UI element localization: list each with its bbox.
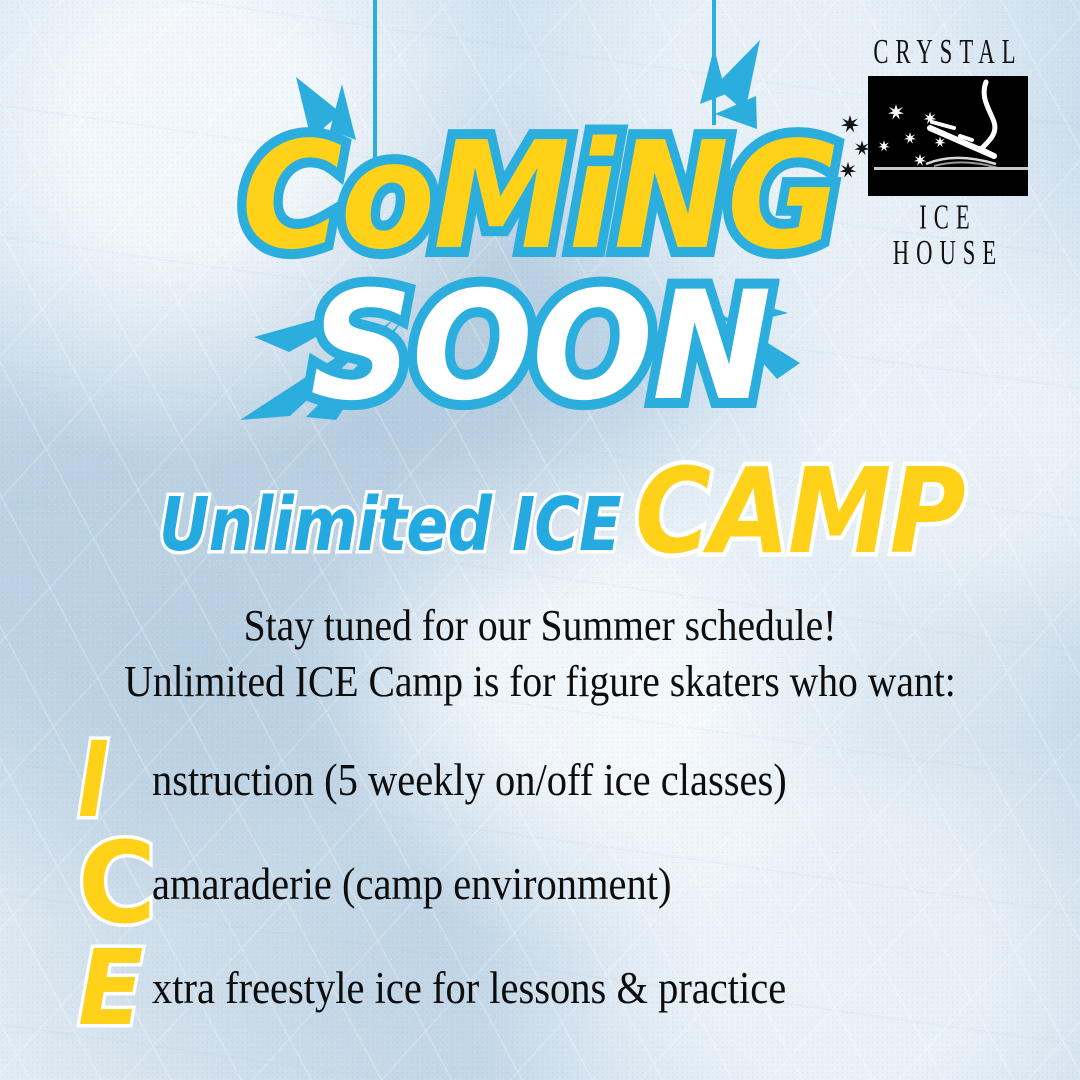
page-title: Unlimited ICE CAMP (0, 452, 1080, 570)
acrostic-letter-i: I (78, 728, 137, 832)
acrostic-text-extra-ice: xtra freestyle ice for lessons & practic… (152, 966, 786, 1011)
ray-icon (715, 40, 760, 112)
announcement-line-1: CoMiNG (0, 128, 1080, 264)
list-item: C amaraderie (camp environment) (78, 832, 1068, 936)
hanging-string-right (712, 0, 716, 125)
poster-canvas: CRYSTAL (0, 0, 1080, 1080)
announcement-line-2: SOON (0, 278, 1080, 416)
coming-text: CoMiNG (242, 128, 839, 264)
title-emphasis: CAMP (635, 452, 964, 570)
intro-line-2: Unlimited ICE Camp is for figure skaters… (54, 654, 1026, 710)
logo-top-text: CRYSTAL (870, 35, 1026, 70)
list-item: I nstruction (5 weekly on/off ice classe… (78, 728, 1068, 832)
acrostic-text-instruction: nstruction (5 weekly on/off ice classes) (152, 758, 787, 803)
soon-text: SOON (310, 278, 770, 416)
acrostic-letter-c: C (78, 828, 148, 940)
acrostic-letter-e: E (78, 936, 146, 1040)
acrostic-text-camaraderie: amaraderie (camp environment) (152, 862, 671, 907)
list-item: E xtra freestyle ice for lessons & pract… (78, 936, 1068, 1040)
intro-line-1: Stay tuned for our Summer schedule! (54, 598, 1026, 654)
title-prefix: Unlimited ICE (159, 488, 621, 570)
acrostic-list: I nstruction (5 weekly on/off ice classe… (78, 728, 1068, 1040)
intro-copy: Stay tuned for our Summer schedule! Unli… (54, 598, 1026, 711)
